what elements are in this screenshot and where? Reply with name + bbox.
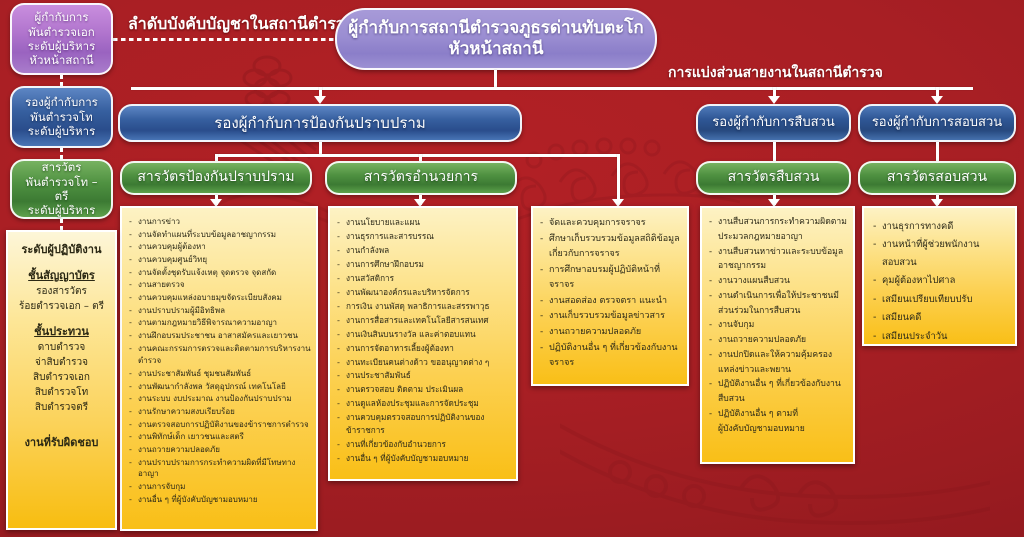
duty-item: เกี่ยวกับการจราจร xyxy=(540,247,682,262)
rank-superintendent-line-1: ผู้กำกับการ xyxy=(34,10,88,24)
duty-item: งานอื่น ๆ ที่ผู้บังคับบัญชามอบหมาย xyxy=(337,452,511,465)
duty-item: ประมวลกฎหมายอาญา xyxy=(709,231,848,245)
deputy-investigation-label: รองผู้กำกับการสืบสวน xyxy=(712,115,835,131)
duty-item: งานการศึกษาฝึกอบรม xyxy=(337,258,511,271)
rank-deputy-line-3: ระดับผู้บริหาร xyxy=(28,124,96,138)
duty-item: ตำรวจ xyxy=(129,355,311,367)
duties-prevention-suppression-list: งานการข่าวงานจัดทำแผนที่ระบบข้อมูลอาชญาก… xyxy=(129,216,311,505)
duty-item: งานฝึกอบรมประชาชน อาสาสมัครและเยาวชน xyxy=(129,330,311,342)
duty-item: งานเก็บรวบรวมข้อมูลข่าวสาร xyxy=(540,309,682,324)
noncommissioned-rank-title: ชั้นประทวน xyxy=(12,322,111,340)
operational-level-header: ระดับผู้ปฏิบัติงาน xyxy=(12,240,111,258)
duty-item: งานจัดทำแผนที่ระบบข้อมูลอาชญากรรม xyxy=(129,229,311,241)
duty-item: งานตรวจสอบ ติดตาม ประเมินผล xyxy=(337,383,511,396)
duty-item: ปฏิบัติงานอื่น ๆ ที่เกี่ยวข้องกับงาน xyxy=(540,341,682,356)
duty-item: งานสวัสดิการ xyxy=(337,272,511,285)
deputy-interrogation-label: รองผู้กำกับการสอบสวน xyxy=(872,115,1002,131)
connector-rank-2-to-3 xyxy=(60,148,63,159)
duties-interrogation-list: งานธุรการทางคดีงานหน้าที่ผู้ช่วยพนักงานส… xyxy=(873,218,1010,346)
duties-investigation-list: งานสืบสวนการกระทำความผิดตามประมวลกฎหมายอ… xyxy=(709,216,848,436)
duties-administration-list: งานนโยบายและแผนงานธุรการและสารบรรณงานกำล… xyxy=(337,216,511,465)
duties-traffic-list: จัดและควบคุมการจราจรศึกษาเก็บรวบรวมข้อมู… xyxy=(540,216,682,371)
connector-prevention-bus xyxy=(215,154,619,157)
duty-item: งานหน้าที่ผู้ช่วยพนักงานสอบสวน xyxy=(873,236,1010,271)
noncommissioned-rank-line-1: ดาบตำรวจ xyxy=(12,340,111,355)
duty-item: จัดและควบคุมการจราจร xyxy=(540,216,682,231)
rank-deputy-line-2: พันตำรวจโท xyxy=(30,110,93,124)
duty-item: งานสืบสวนการกระทำความผิดตาม xyxy=(709,216,848,230)
duty-item: งานทะเบียนคนต่างด้าว ขออนุญาตต่าง ๆ xyxy=(337,356,511,369)
duty-item: งานรักษาความสงบเรียบร้อย xyxy=(129,406,311,418)
duty-item: เสมียนคดี xyxy=(873,309,1010,326)
connector-deputy-prevention-down xyxy=(319,142,322,154)
rank-deputy-superintendent[interactable]: รองผู้กำกับการ พันตำรวจโท ระดับผู้บริหาร xyxy=(10,86,113,148)
duty-item: งานตรวจสอบการปฏิบัติงานของข้าราชการตำรวจ xyxy=(129,419,311,431)
caption-chain-of-command: ลำดับบังคับบัญชาในสถานีตำรวจ xyxy=(128,12,354,37)
duty-item: งานอื่น ๆ ที่ผู้บังคับบัญชามอบหมาย xyxy=(129,494,311,506)
rank-inspector[interactable]: สารวัตร พันตำรวจโท – ตรี ระดับผู้บริหาร xyxy=(10,159,113,219)
duty-item: การศึกษาอบรมผู้ปฏิบัติหน้าที่ xyxy=(540,263,682,278)
duties-administration: งานนโยบายและแผนงานธุรการและสารบรรณงานกำล… xyxy=(328,206,518,481)
duty-item: งานควบคุมศูนย์วิทยุ xyxy=(129,254,311,266)
duty-item: งานถวายความปลอดภัย xyxy=(540,325,682,340)
duty-item: เสมียนประจำวัน xyxy=(873,328,1010,345)
duty-item: งานธุรการทางคดี xyxy=(873,218,1010,235)
rank-superintendent-line-3: ระดับผู้บริหาร xyxy=(28,39,96,53)
duty-item: งานสอดส่อง ตรวจตรา แนะนำ xyxy=(540,294,682,309)
duty-item: งานธุรการและสารบรรณ xyxy=(337,230,511,243)
duty-item: ส่วนร่วมในการสืบสวน xyxy=(709,305,848,319)
duty-item: งานพัฒนาองค์กรและบริหารจัดการ xyxy=(337,286,511,299)
duty-item: งานปกปิดและให้ความคุ้มครอง xyxy=(709,349,848,363)
connector-deputy-investigation-down xyxy=(773,142,776,162)
duty-item: งานดูแลห้องประชุมและการจัดประชุม xyxy=(337,397,511,410)
connector-to-traffic-duties xyxy=(617,154,620,200)
rank-inspector-line-2: พันตำรวจโท – ตรี xyxy=(18,175,105,204)
org-chart-canvas: ลำดับบังคับบัญชาในสถานีตำรวจ การแบ่งส่วน… xyxy=(0,0,1024,537)
duty-item: งานถวายความปลอดภัย xyxy=(129,444,311,456)
inspector-prevention-suppression[interactable]: สารวัตรป้องกันปราบปราม xyxy=(120,161,312,195)
noncommissioned-rank-line-2: จ่าสิบตำรวจ xyxy=(12,355,111,370)
duty-item: งานตามกฎหมายวิธีพิจารณาความอาญา xyxy=(129,317,311,329)
noncommissioned-rank-line-5: สิบตำรวจตรี xyxy=(12,400,111,415)
connector-rank-1-to-2 xyxy=(60,75,63,86)
inspector-investigation[interactable]: สารวัตรสืบสวน xyxy=(696,161,851,195)
duty-item: สืบสวน xyxy=(709,393,848,407)
duty-item: จราจร xyxy=(540,278,682,293)
operational-level-panel: ระดับผู้ปฏิบัติงาน ชั้นสัญญาบัตร รองสารว… xyxy=(6,230,117,530)
duty-item: ปฏิบัติงานอื่น ๆ ที่เกี่ยวข้องกับงาน xyxy=(709,378,848,392)
duty-item: งานนโยบายและแผน xyxy=(337,216,511,229)
responsibilities-footer: งานที่รับผิดชอบ xyxy=(12,433,111,451)
duty-item: งานถวายความปลอดภัย xyxy=(709,334,848,348)
duty-item: งานกำลังพล xyxy=(337,244,511,257)
deputy-interrogation[interactable]: รองผู้กำกับการสอบสวน xyxy=(858,104,1016,142)
rank-superintendent[interactable]: ผู้กำกับการ พันตำรวจเอก ระดับผู้บริหาร ห… xyxy=(10,3,113,75)
rank-inspector-line-1: สารวัตร xyxy=(42,160,82,174)
duty-item: การเงิน งานพัสดุ พลาธิการและสรรพาวุธ xyxy=(337,300,511,313)
duty-item: งานควบคุมแหล่งอบายมุขจัดระเบียบสังคม xyxy=(129,292,311,304)
duty-item: งานปราบปรามการกระทำความผิดที่มีโทษทางอาญ… xyxy=(129,457,311,480)
deputy-investigation[interactable]: รองผู้กำกับการสืบสวน xyxy=(696,104,851,142)
connector-title-down xyxy=(494,70,497,87)
duty-item: งานการสื่อสารและเทคโนโลยีสารสนเทศ xyxy=(337,314,511,327)
duty-item: คุมผู้ต้องหาไปศาล xyxy=(873,272,1010,289)
duty-item: งานประชาสัมพันธ์ xyxy=(337,369,511,382)
inspector-interrogation[interactable]: สารวัตรสอบสวน xyxy=(858,161,1016,195)
duty-item: งานควบคุมตรวจสอบการปฏิบัติงานของข้าราชกา… xyxy=(337,411,511,437)
duty-item: งานจัดตั้งชุดรับแจ้งเหตุ จุดตรวจ จุดสกัด xyxy=(129,267,311,279)
duty-item: งานการข่าว xyxy=(129,216,311,228)
caption-division-of-work: การแบ่งส่วนสายงานในสถานีตำรวจ xyxy=(668,62,883,84)
duty-item: งานสืบสวนหาข่าวและระบบข้อมูล xyxy=(709,246,848,260)
duty-item: งานเงินสินบนรางวัล และค่าตอบแทน xyxy=(337,328,511,341)
duty-item: ผู้บังคับบัญชามอบหมาย xyxy=(709,423,848,437)
duty-item: งานปราบปรามผู้มีอิทธิพล xyxy=(129,305,311,317)
duty-item: งานระบบ งบประมาณ งานป้องกันปราบปราม xyxy=(129,393,311,405)
inspector-interrogation-label: สารวัตรสอบสวน xyxy=(887,169,987,187)
noncommissioned-rank-line-3: สิบตำรวจเอก xyxy=(12,370,111,385)
arrow-deputy-prevention xyxy=(314,96,326,104)
commissioned-rank-line-2: ร้อยตำรวจเอก – ตรี xyxy=(12,299,111,314)
duty-item: งานควบคุมผู้ต้องหา xyxy=(129,241,311,253)
noncommissioned-rank-line-4: สิบตำรวจโท xyxy=(12,385,111,400)
inspector-administration-label: สารวัตรอำนวยการ xyxy=(364,169,478,187)
rank-deputy-line-1: รองผู้กำกับการ xyxy=(25,95,98,109)
duty-item: จราจร xyxy=(540,356,682,371)
duty-item: ปฏิบัติงานอื่น ๆ ตามที่ xyxy=(709,408,848,422)
duty-item: งานการจับกุม xyxy=(129,481,311,493)
rank-superintendent-line-4: หัวหน้าสถานี xyxy=(29,53,93,67)
duty-item: งานที่เกี่ยวข้องกับอำนวยการ xyxy=(337,438,511,451)
connector-rail-to-title xyxy=(113,38,335,41)
duty-item: เสมียนเปรียบเทียบปรับ xyxy=(873,291,1010,308)
duty-item: งานจับกุม xyxy=(709,319,848,333)
duty-item: งานคณะกรรมการตรวจและติดตามการบริหารงาน xyxy=(129,343,311,355)
commissioned-rank-line-1: รองสารวัตร xyxy=(12,284,111,299)
deputy-prevention-suppression[interactable]: รองผู้กำกับการป้องกันปราบปราม xyxy=(118,104,522,142)
arrow-deputy-interrogation xyxy=(931,96,943,104)
inspector-investigation-label: สารวัตรสืบสวน xyxy=(728,169,820,187)
arrow-deputy-investigation xyxy=(768,96,780,104)
duty-item: งานพัฒนากำลังพล วัสดุอุปกรณ์ เทคโนโลยี xyxy=(129,381,311,393)
connector-deputy-interrogation-down xyxy=(936,142,939,162)
duty-item: งานพิทักษ์เด็ก เยาวชนและสตรี xyxy=(129,431,311,443)
duty-item: งานการจัดอาหารเลี้ยงผู้ต้องหา xyxy=(337,342,511,355)
commissioned-rank-title: ชั้นสัญญาบัตร xyxy=(12,266,111,284)
inspector-administration[interactable]: สารวัตรอำนวยการ xyxy=(325,161,517,195)
duty-item: ศึกษาเก็บรวบรวมข้อมูลสถิติข้อมูล xyxy=(540,232,682,247)
inspector-prevention-suppression-label: สารวัตรป้องกันปราบปราม xyxy=(137,169,294,187)
duties-traffic: จัดและควบคุมการจราจรศึกษาเก็บรวบรวมข้อมู… xyxy=(531,206,689,386)
rank-inspector-line-3: ระดับผู้บริหาร xyxy=(28,203,96,217)
duties-interrogation: งานธุรการทางคดีงานหน้าที่ผู้ช่วยพนักงานส… xyxy=(862,206,1017,346)
title-box-superintendent[interactable]: ผู้กำกับการสถานีตำรวจภูธรด่านทับตะโก หัว… xyxy=(335,8,657,70)
title-line-1: ผู้กำกับการสถานีตำรวจภูธรด่านทับตะโก xyxy=(348,18,643,39)
duties-investigation: งานสืบสวนการกระทำความผิดตามประมวลกฎหมายอ… xyxy=(700,206,855,464)
title-line-2: หัวหน้าสถานี xyxy=(449,39,544,60)
deputy-prevention-suppression-label: รองผู้กำกับการป้องกันปราบปราม xyxy=(214,114,425,133)
duty-item: งานดำเนินการเพื่อให้ประชาชนมี xyxy=(709,290,848,304)
duty-item: งานสายตรวจ xyxy=(129,279,311,291)
duty-item: งานวางแผนสืบสวน xyxy=(709,275,848,289)
rank-superintendent-line-2: พันตำรวจเอก xyxy=(28,25,95,39)
duty-item: งานประชาสัมพันธ์ ชุมชนสัมพันธ์ xyxy=(129,368,311,380)
connector-rank-3-to-panel xyxy=(60,219,63,230)
duty-item: แหล่งข่าวและพยาน xyxy=(709,364,848,378)
connector-deputies-bus xyxy=(131,87,973,90)
duty-item: อาชญากรรม xyxy=(709,260,848,274)
duties-prevention-suppression: งานการข่าวงานจัดทำแผนที่ระบบข้อมูลอาชญาก… xyxy=(120,206,318,531)
